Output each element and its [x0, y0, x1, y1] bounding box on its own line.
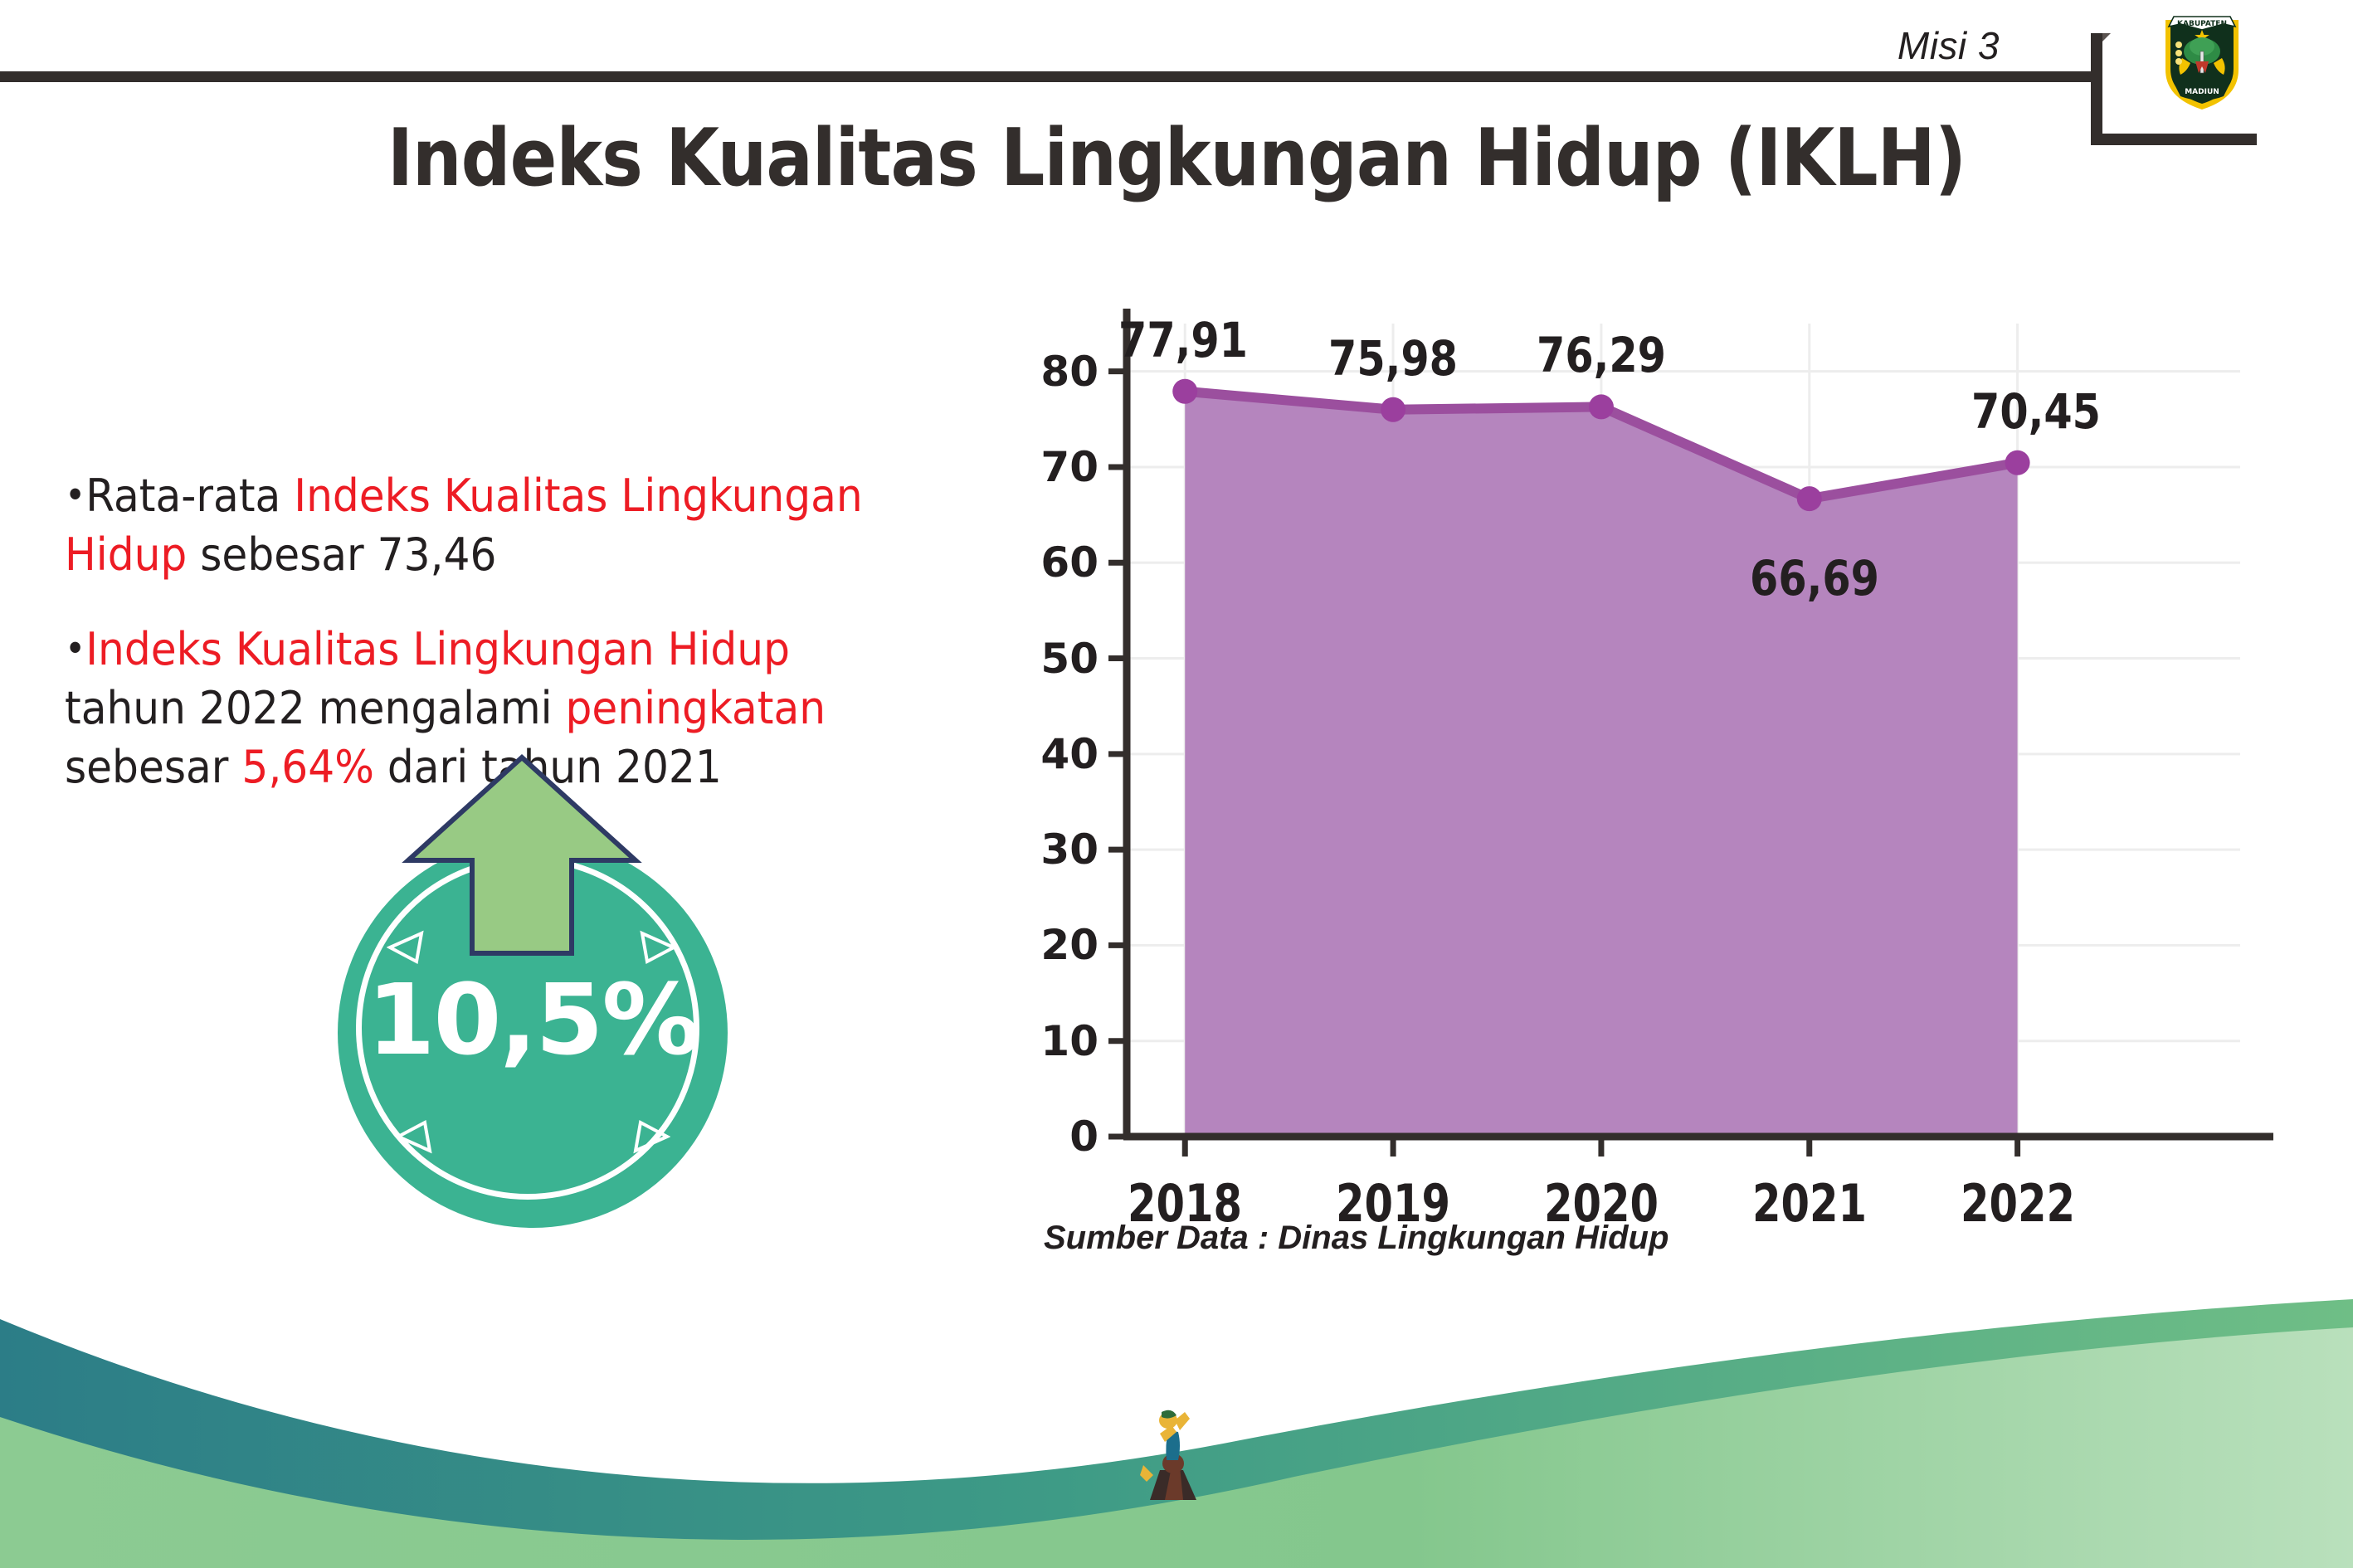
data-point-marker: [1381, 397, 1405, 422]
y-axis-tick-label: 0: [999, 1113, 1099, 1161]
y-axis-tick-label: 70: [999, 443, 1099, 491]
statistics-figure-logo-icon: [1135, 1405, 1211, 1503]
iklh-area-chart: 010203040506070802018201920202021202277,…: [979, 299, 2307, 1178]
bullet-text: sebesar 73,46: [187, 528, 496, 581]
up-arrow-icon: [402, 751, 642, 958]
y-axis-tick-label: 60: [999, 538, 1099, 587]
data-point-marker: [1589, 394, 1614, 419]
bullet-text: sebesar: [65, 741, 241, 793]
data-point-label: 66,69: [1750, 550, 1879, 606]
area-fill: [1185, 392, 2017, 1137]
badge-tick-icon: [639, 928, 677, 967]
page-title: Indeks Kualitas Lingkungan Hidup (IKLH): [141, 113, 2212, 204]
infographic-slide: Misi 3 KABUPATEN MADIUN Indeks Kualitas …: [0, 0, 2353, 1568]
misi-label: Misi 3: [1898, 23, 2000, 68]
bullet-text-highlight: peningkatan: [566, 682, 826, 734]
data-point-marker: [2005, 450, 2030, 475]
data-point-marker: [1797, 486, 1822, 511]
x-axis-tick-label: 2021: [1752, 1173, 1867, 1234]
y-axis-tick-label: 30: [999, 825, 1099, 874]
badge-tick-icon: [632, 1118, 670, 1156]
y-axis-tick-label: 20: [999, 921, 1099, 969]
list-item: •Rata-rata Indeks Kualitas Lingkungan Hi…: [65, 466, 906, 585]
y-axis-tick-label: 10: [999, 1017, 1099, 1065]
y-axis-tick-label: 80: [999, 348, 1099, 396]
x-axis-tick-label: 2022: [1961, 1173, 2075, 1234]
data-point-label: 77,91: [1118, 312, 1248, 368]
header-rule: [0, 71, 2092, 82]
data-point-label: 70,45: [1971, 383, 2101, 440]
bullet-marker: •: [65, 472, 85, 517]
chart-canvas: [979, 299, 2307, 1178]
badge-tick-icon: [395, 1118, 433, 1156]
bullet-text: tahun 2022 mengalami: [65, 682, 566, 734]
y-axis-tick-label: 40: [999, 730, 1099, 778]
bullet-marker: •: [65, 626, 85, 670]
badge-tick-icon: [387, 928, 425, 967]
data-point-label: 76,29: [1537, 327, 1666, 383]
svg-text:MADIUN: MADIUN: [2185, 88, 2219, 96]
source-note: Sumber Data : Dinas Lingkungan Hidup: [1044, 1220, 1669, 1257]
badge-value: 10,5%: [322, 962, 743, 1077]
bullet-text-highlight: Indeks Kualitas Lingkungan Hidup: [85, 623, 790, 675]
bullet-text: Rata-rata: [85, 470, 294, 522]
data-point-label: 75,98: [1328, 330, 1458, 387]
y-axis-tick-label: 50: [999, 635, 1099, 683]
data-point-marker: [1172, 379, 1197, 404]
svg-text:KABUPATEN: KABUPATEN: [2177, 20, 2227, 28]
growth-badge: 10,5%: [322, 751, 753, 1199]
kabupaten-madiun-emblem-icon: KABUPATEN MADIUN: [2159, 8, 2245, 112]
